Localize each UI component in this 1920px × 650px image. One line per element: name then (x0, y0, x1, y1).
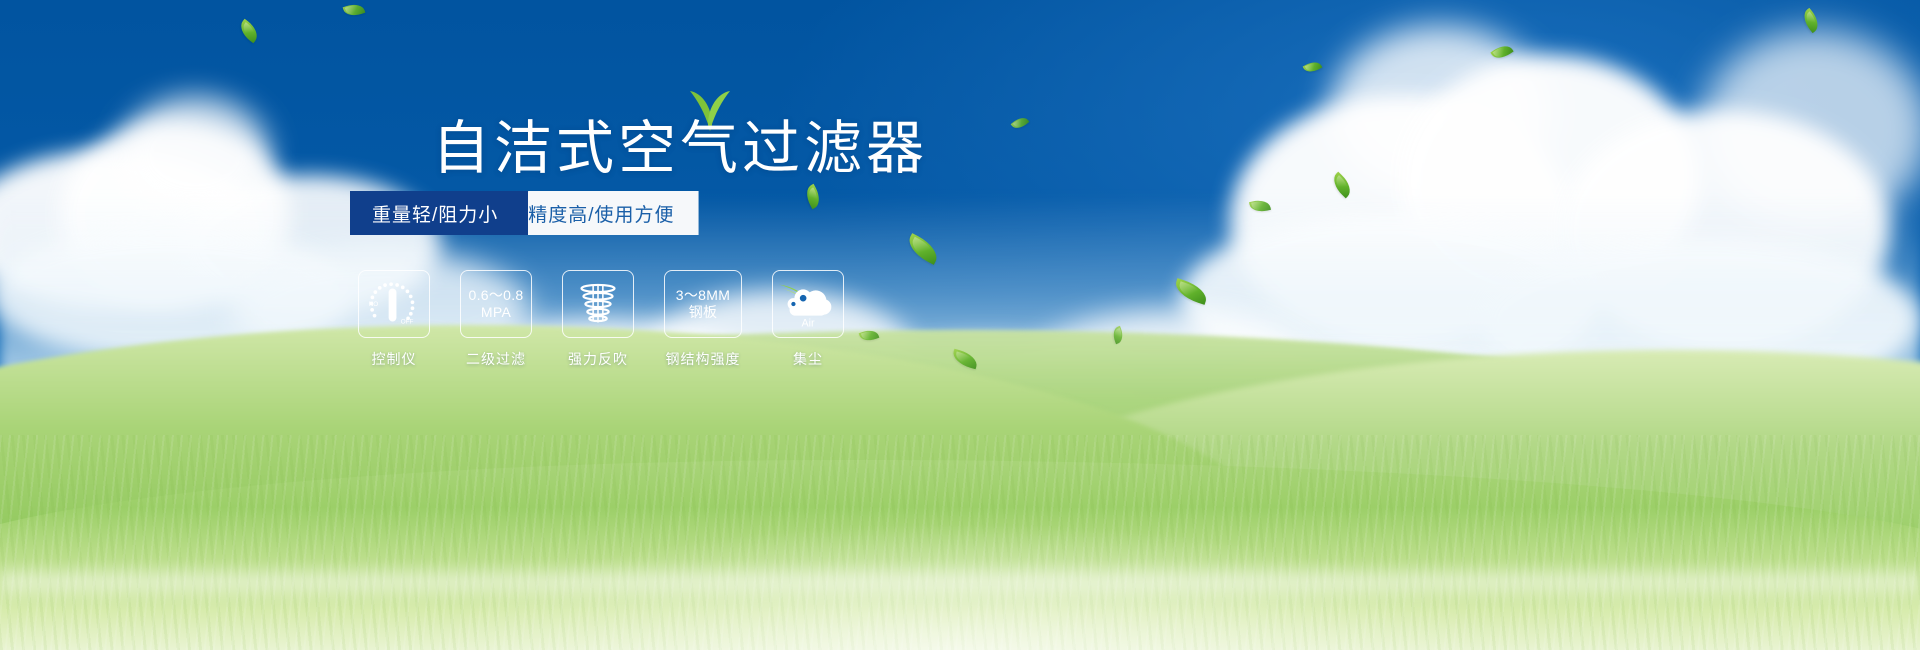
feature-icon-box: 0.6～0.8 MPA (460, 270, 532, 338)
feature-label: 钢结构强度 (666, 349, 741, 369)
feature-icon-box: Air (772, 270, 844, 338)
feature-item-control-instrument[interactable]: NO OFF 控制仪 (358, 270, 430, 369)
svg-text:OFF: OFF (401, 318, 414, 325)
feature-item-two-stage-filtration[interactable]: 0.6～0.8 MPA 二级过滤 (460, 270, 532, 369)
feature-item-dust-collection[interactable]: Air 集尘 (772, 270, 844, 369)
coil-spring-icon (563, 270, 633, 338)
air-cloud-icon: Air (773, 270, 843, 338)
feature-item-steel-structure-strength[interactable]: 3～8MM 钢板 钢结构强度 (664, 270, 742, 369)
air-label: Air (801, 317, 815, 329)
feature-label: 控制仪 (372, 349, 417, 369)
feature-label: 强力反吹 (568, 349, 628, 369)
feature-icon-box (562, 270, 634, 338)
feature-icon-box: NO OFF (358, 270, 430, 338)
feature-item-strong-backblow[interactable]: 强力反吹 (562, 270, 634, 369)
svg-text:NO: NO (369, 301, 379, 308)
feature-list: NO OFF 控制仪 0.6～0.8 MPA 二级过滤 (358, 270, 844, 369)
banner-content: 自洁式空气过滤器 重量轻/阻力小 精度高/使用方便 (0, 0, 1920, 650)
feature-label: 二级过滤 (466, 349, 526, 369)
pressure-text-icon: 0.6～0.8 MPA (468, 287, 523, 321)
badge-label: 精度高/使用方便 (528, 200, 674, 227)
badge-label: 重量轻/阻力小 (372, 200, 498, 227)
feature-icon-box: 3～8MM 钢板 (664, 270, 742, 338)
control-dial-icon: NO OFF (359, 270, 429, 338)
subtitle-badges: 重量轻/阻力小 精度高/使用方便 (350, 191, 699, 235)
badge-precision-easyuse[interactable]: 精度高/使用方便 (506, 191, 698, 235)
feature-label: 集尘 (793, 349, 823, 369)
steel-plate-text-icon: 3～8MM 钢板 (676, 287, 730, 321)
page-title: 自洁式空气过滤器 (432, 118, 928, 180)
badge-lightweight-lowresistance[interactable]: 重量轻/阻力小 (350, 191, 528, 235)
